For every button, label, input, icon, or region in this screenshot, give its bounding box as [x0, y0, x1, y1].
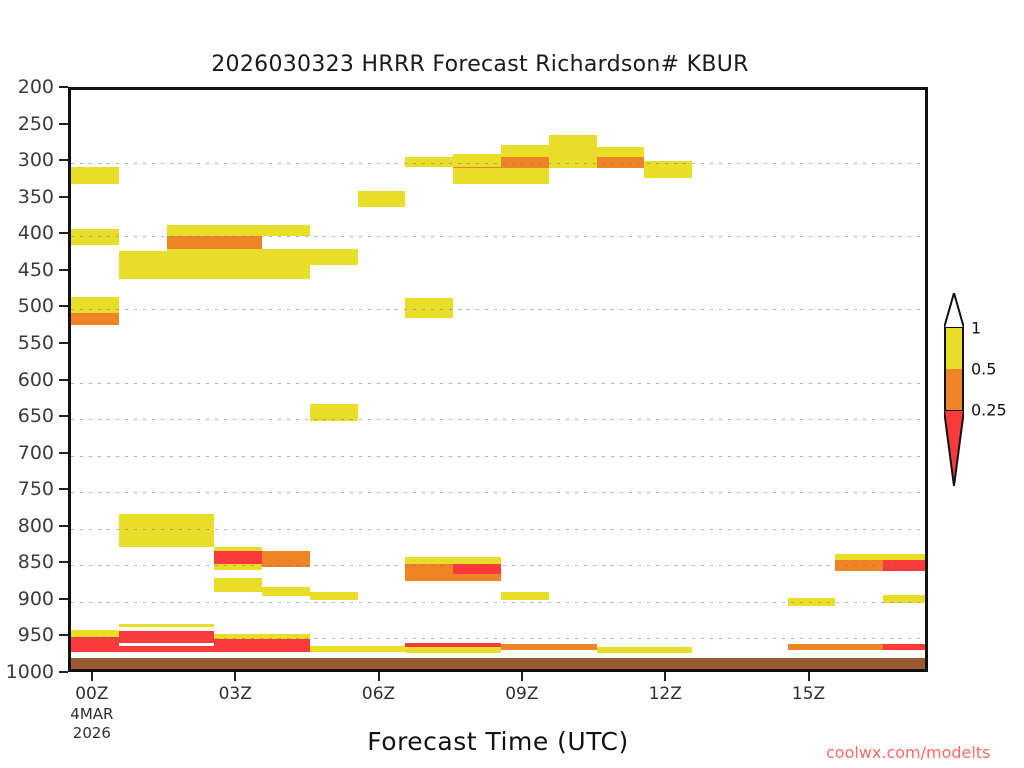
colorbar-over-arrow-outline	[944, 293, 964, 328]
y-axis-tick-label: 200	[18, 76, 54, 98]
y-axis-tick	[59, 671, 68, 673]
y-axis-tick	[59, 525, 68, 527]
heatmap-cell	[405, 647, 501, 653]
heatmap-cell	[71, 313, 119, 325]
colorbar-tick-label: 0.25	[971, 401, 1007, 420]
y-axis-tick	[59, 488, 68, 490]
heatmap-cell	[310, 249, 358, 265]
y-axis-tick-label: 700	[18, 442, 54, 464]
y-axis-tick	[59, 598, 68, 600]
heatmap-cell	[119, 514, 215, 547]
y-axis-tick-label: 350	[18, 186, 54, 208]
gridline-horizontal	[71, 456, 925, 457]
y-axis-tick	[59, 232, 68, 234]
x-axis-title: Forecast Time (UTC)	[68, 727, 928, 756]
colorbar-segment	[944, 328, 964, 369]
heatmap-cell	[262, 587, 310, 596]
heatmap-cell	[788, 644, 884, 650]
colorbar-tick-label: 0.5	[971, 360, 996, 379]
gridline-horizontal	[71, 383, 925, 384]
colorbar-under-arrow	[944, 410, 964, 486]
y-axis-tick-label: 450	[18, 259, 54, 281]
colorbar-segment	[944, 369, 964, 410]
heatmap-cell	[883, 644, 928, 650]
x-axis-tick	[664, 672, 666, 681]
chart-canvas: 2026030323 HRRR Forecast Richardson# KBU…	[0, 0, 1024, 768]
y-axis-tick	[59, 379, 68, 381]
x-axis-tick-label: 00Z	[75, 684, 108, 704]
heatmap-cell	[597, 647, 693, 653]
chart-title: 2026030323 HRRR Forecast Richardson# KBU…	[0, 52, 960, 77]
gridline-horizontal	[71, 163, 925, 164]
heatmap-cell	[358, 191, 406, 207]
heatmap-cell	[501, 644, 597, 650]
x-axis-tick	[378, 672, 380, 681]
x-axis-tick-label: 12Z	[649, 684, 682, 704]
y-axis-tick-label: 900	[18, 588, 54, 610]
x-axis-tick	[91, 672, 93, 681]
heatmap-cell	[119, 646, 310, 652]
heatmap-cell	[167, 249, 310, 278]
gridline-horizontal	[71, 638, 925, 639]
y-axis-tick-label: 400	[18, 222, 54, 244]
y-axis-tick	[59, 342, 68, 344]
x-axis-tick-label: 15Z	[792, 684, 825, 704]
heatmap-cell	[501, 592, 549, 601]
heatmap-cell	[405, 574, 501, 581]
heatmap-cell	[167, 236, 263, 249]
heatmap-cell	[71, 297, 119, 313]
heatmap-cell	[71, 630, 119, 637]
heatmap-cell	[501, 145, 549, 157]
x-axis-tick	[234, 672, 236, 681]
y-axis-tick	[59, 123, 68, 125]
heatmap-cell	[453, 168, 549, 183]
y-axis-tick-label: 500	[18, 295, 54, 317]
watermark: coolwx.com/modelts	[826, 743, 990, 762]
x-axis-tick-label: 09Z	[505, 684, 538, 704]
y-axis: 2002503003504004505005506006507007508008…	[0, 87, 68, 672]
heatmap-cell	[310, 646, 406, 652]
y-axis-tick-label: 550	[18, 332, 54, 354]
heatmap-cell	[119, 251, 167, 279]
heatmap-cell	[167, 225, 310, 236]
y-axis-tick-label: 1000	[6, 661, 54, 683]
gridline-horizontal	[71, 602, 925, 603]
x-axis-tick	[808, 672, 810, 681]
terrain-block	[71, 658, 925, 669]
heatmap-cells	[71, 90, 925, 669]
y-axis-tick	[59, 269, 68, 271]
colorbar-tick-label: 1	[971, 319, 981, 338]
heatmap-cell	[549, 135, 597, 157]
heatmap-cell	[71, 167, 119, 184]
heatmap-cell	[214, 639, 310, 646]
heatmap-cell	[214, 551, 262, 564]
y-axis-tick	[59, 86, 68, 88]
y-axis-tick	[59, 634, 68, 636]
heatmap-cell	[310, 592, 358, 601]
y-axis-tick-label: 600	[18, 369, 54, 391]
y-axis-tick-label: 750	[18, 478, 54, 500]
heatmap-cell	[405, 557, 501, 564]
y-axis-tick-label: 250	[18, 113, 54, 135]
gridline-horizontal	[71, 565, 925, 566]
y-axis-tick-label: 950	[18, 624, 54, 646]
y-axis-tick-label: 300	[18, 149, 54, 171]
heatmap-cell	[119, 631, 215, 643]
heatmap-cell	[214, 578, 262, 591]
heatmap-cell	[119, 624, 215, 628]
y-axis-tick	[59, 452, 68, 454]
gridline-horizontal	[71, 419, 925, 420]
y-axis-tick	[59, 561, 68, 563]
colorbar-body	[941, 293, 967, 486]
heatmap-cell	[405, 298, 453, 318]
gridline-horizontal	[71, 529, 925, 530]
gridline-horizontal	[71, 236, 925, 237]
x-axis-tick-label: 06Z	[362, 684, 395, 704]
y-axis-tick	[59, 415, 68, 417]
colorbar: 10.50.25	[941, 293, 967, 486]
gridline-horizontal	[71, 492, 925, 493]
y-axis-tick	[59, 196, 68, 198]
y-axis-tick-label: 650	[18, 405, 54, 427]
x-axis-tick	[521, 672, 523, 681]
y-axis-tick-label: 800	[18, 515, 54, 537]
x-axis-tick-label: 03Z	[219, 684, 252, 704]
y-axis-tick	[59, 159, 68, 161]
y-axis-tick-label: 850	[18, 551, 54, 573]
plot-area	[68, 87, 928, 672]
heatmap-cell	[597, 147, 645, 157]
gridline-horizontal	[71, 309, 925, 310]
y-axis-tick	[59, 305, 68, 307]
